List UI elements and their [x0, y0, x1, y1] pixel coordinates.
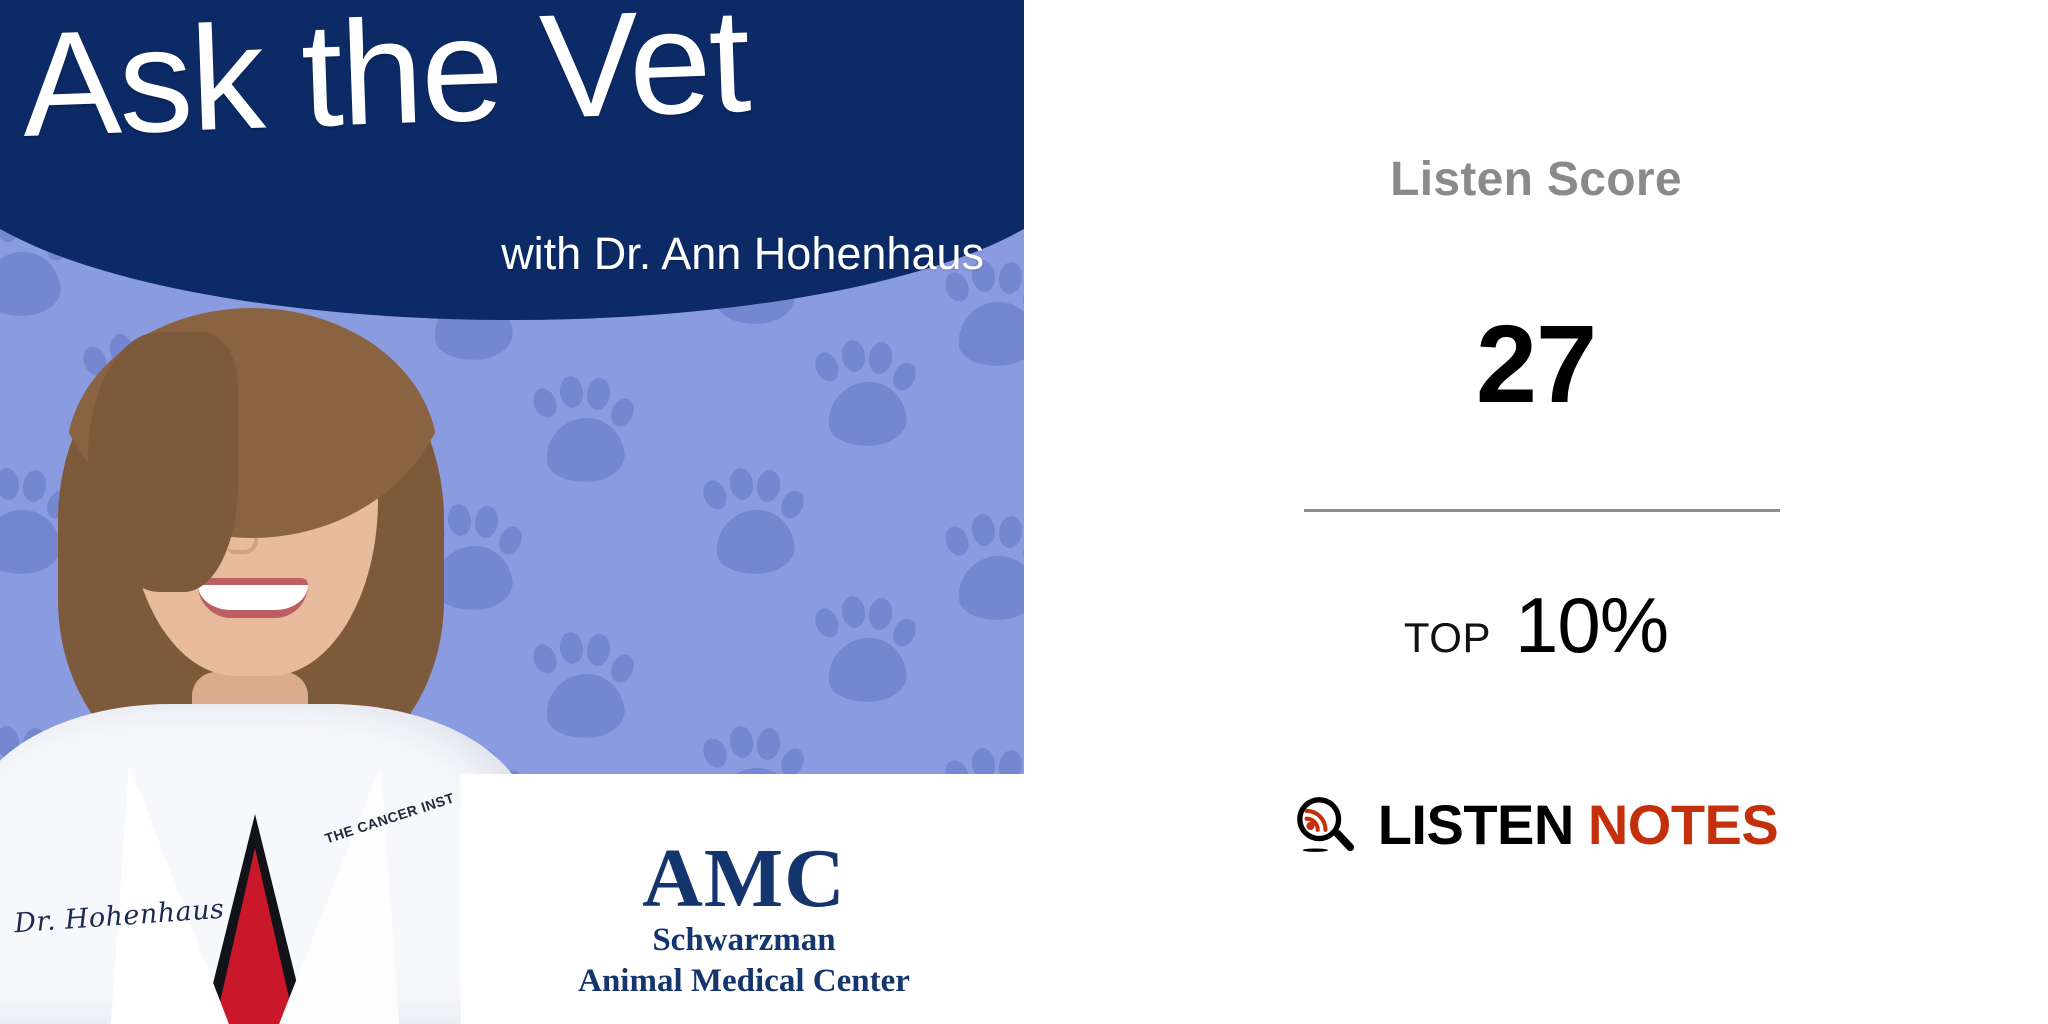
hair-side	[88, 332, 238, 592]
amc-subtitle-line1: Schwarzman	[464, 920, 1024, 961]
paw-icon	[530, 628, 648, 746]
listen-notes-wordmark: LISTENNOTES	[1378, 792, 1779, 857]
amc-logo: AMC Schwarzman Animal Medical Center	[464, 839, 1024, 1002]
paw-icon	[942, 256, 1024, 374]
listen-score-value: 27	[1024, 310, 2048, 420]
magnifier-rss-icon	[1294, 794, 1356, 856]
rank-prefix-label: TOP	[1404, 614, 1491, 662]
podcast-cover-art[interactable]: Ask the Vet with Dr. Ann Hohenhaus Dr. H…	[0, 0, 1024, 1024]
brand-word-notes: NOTES	[1588, 793, 1778, 856]
rank-percentile-value: 10%	[1515, 580, 1668, 671]
paw-icon	[812, 592, 930, 710]
host-portrait: Dr. Hohenhaus THE CANCER INST	[0, 224, 530, 1024]
coat-lapel-left	[111, 764, 247, 1024]
rank-row: TOP 10%	[1024, 580, 2048, 671]
listen-score-card: Ask the Vet with Dr. Ann Hohenhaus Dr. H…	[0, 0, 2048, 1024]
amc-subtitle-line2: Animal Medical Center	[464, 961, 1024, 1002]
mouth	[198, 578, 308, 618]
score-divider	[1304, 509, 1780, 512]
brand-word-listen: LISTEN	[1378, 793, 1574, 856]
listen-notes-brand[interactable]: LISTENNOTES	[1024, 792, 2048, 857]
paw-icon	[812, 336, 930, 454]
paw-icon	[530, 372, 648, 490]
paw-icon	[942, 510, 1024, 628]
amc-wordmark: AMC	[464, 839, 1024, 920]
coat-lapel-right	[261, 764, 399, 1024]
paw-icon	[700, 464, 818, 582]
listen-score-label: Listen Score	[1024, 152, 2048, 207]
listen-score-panel: Listen Score 27 TOP 10% LISTENNOTES	[1024, 0, 2048, 1024]
